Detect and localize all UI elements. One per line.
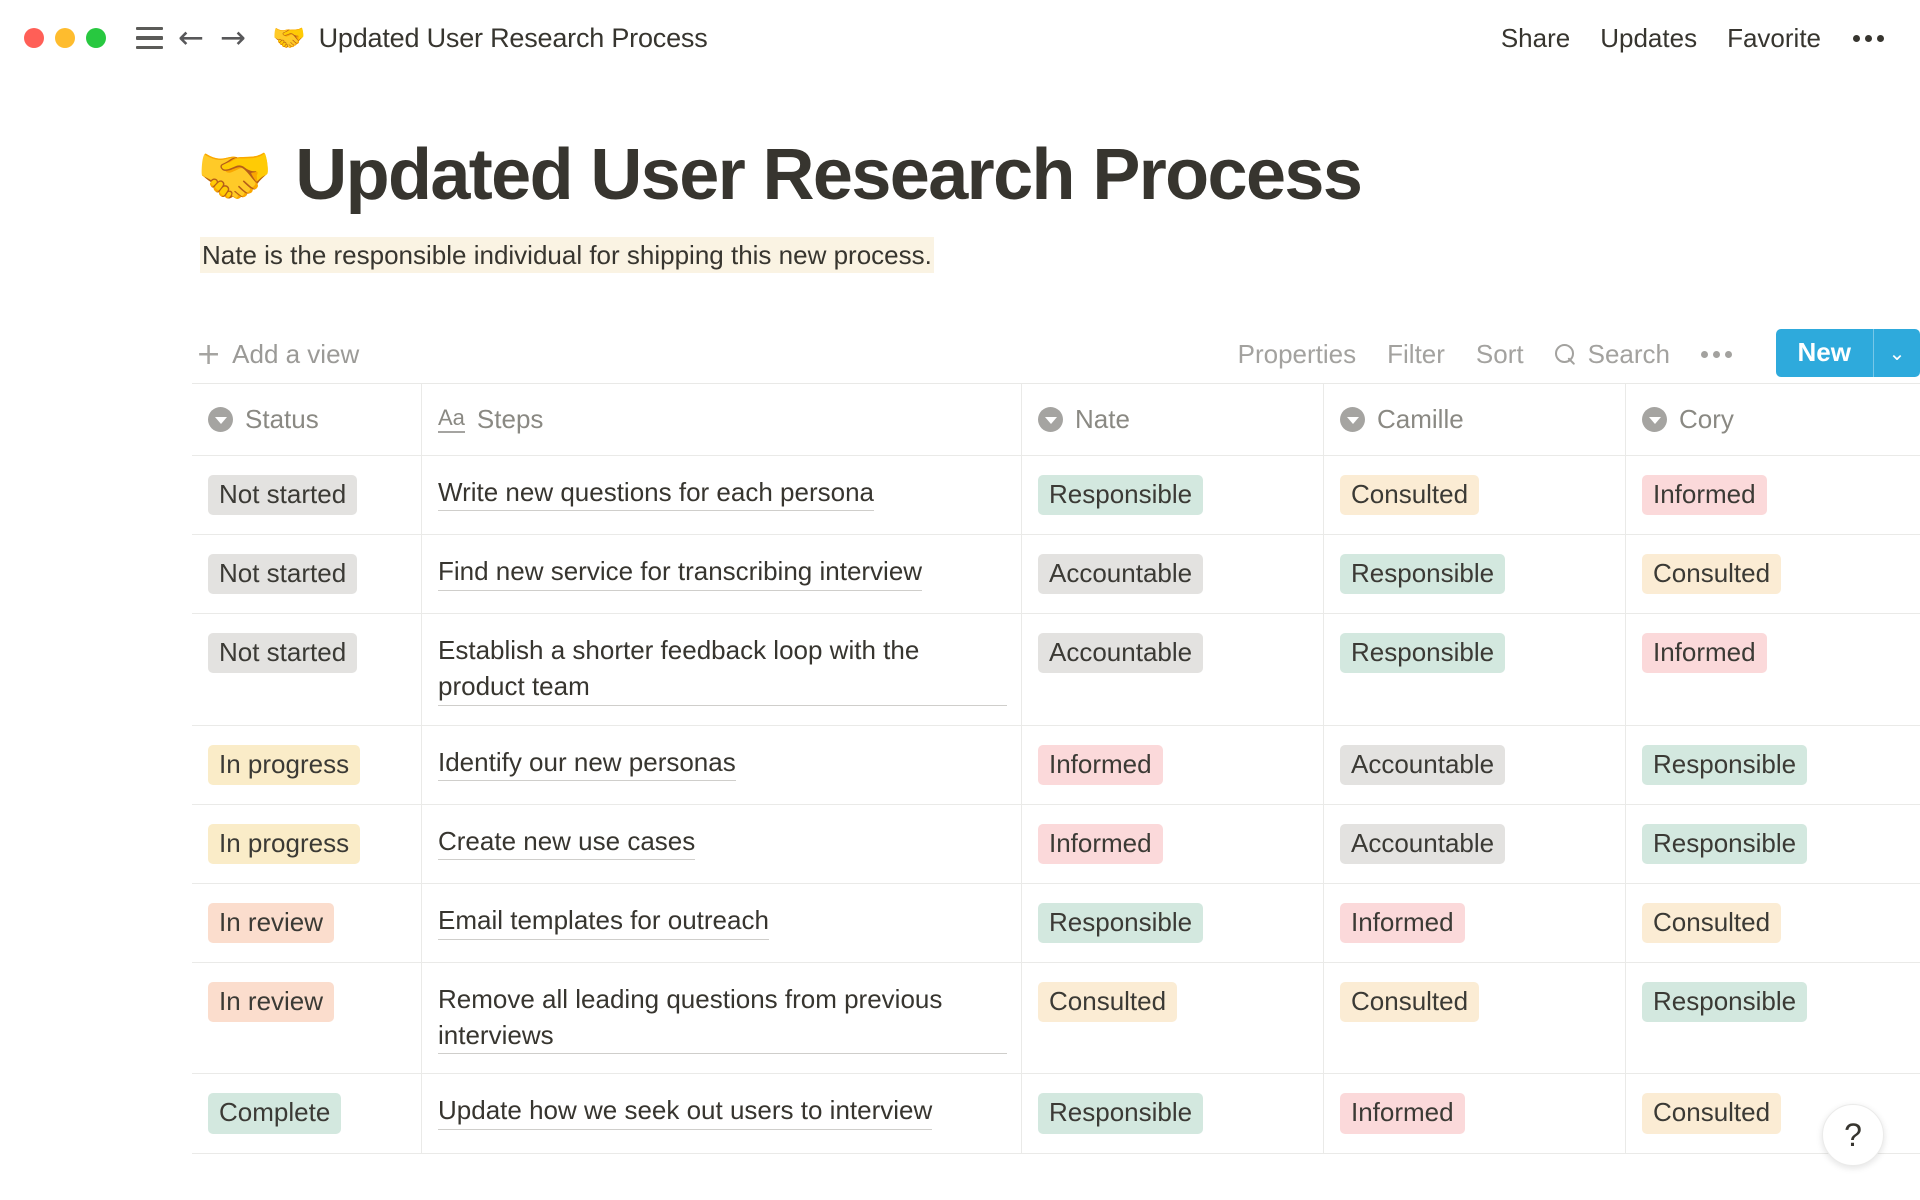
minimize-window-button[interactable] xyxy=(55,28,75,48)
step-title[interactable]: Write new questions for each persona xyxy=(438,475,874,512)
raci-badge-nate: Accountable xyxy=(1038,554,1203,594)
new-button-group: New ⌄ xyxy=(1776,329,1920,377)
cell-nate[interactable]: Accountable xyxy=(1022,535,1324,613)
step-title[interactable]: Identify our new personas xyxy=(438,745,736,782)
chevron-down-icon[interactable]: ⌄ xyxy=(1874,329,1920,377)
breadcrumb-title: Updated User Research Process xyxy=(319,23,708,54)
page-title[interactable]: Updated User Research Process xyxy=(295,138,1361,214)
table-row[interactable]: In progressCreate new use casesInformedA… xyxy=(192,805,1920,884)
properties-button[interactable]: Properties xyxy=(1238,339,1357,370)
cell-nate[interactable]: Accountable xyxy=(1022,614,1324,725)
cell-status[interactable]: In progress xyxy=(192,726,422,804)
table-row[interactable]: In progressIdentify our new personasInfo… xyxy=(192,726,1920,805)
table-row[interactable]: Not startedWrite new questions for each … xyxy=(192,456,1920,535)
raci-badge-cory: Consulted xyxy=(1642,554,1781,594)
cell-status[interactable]: Not started xyxy=(192,614,422,725)
cell-nate[interactable]: Informed xyxy=(1022,805,1324,883)
add-view-label: Add a view xyxy=(232,339,359,370)
cell-camille[interactable]: Consulted xyxy=(1324,456,1626,534)
back-arrow-icon[interactable]: ← xyxy=(170,17,212,59)
view-controls: Properties Filter Sort Search xyxy=(1238,327,1732,383)
cell-steps[interactable]: Establish a shorter feedback loop with t… xyxy=(422,614,1022,725)
help-button[interactable]: ? xyxy=(1822,1104,1884,1166)
table-row[interactable]: CompleteUpdate how we seek out users to … xyxy=(192,1074,1920,1153)
table-body: Not startedWrite new questions for each … xyxy=(192,456,1920,1154)
title-aa-icon: Aa xyxy=(438,406,465,433)
cell-steps[interactable]: Remove all leading questions from previo… xyxy=(422,963,1022,1074)
cell-status[interactable]: Not started xyxy=(192,535,422,613)
cell-camille[interactable]: Responsible xyxy=(1324,614,1626,725)
raci-badge-cory: Informed xyxy=(1642,475,1767,515)
column-header-label: Status xyxy=(245,404,319,435)
raci-badge-camille: Consulted xyxy=(1340,982,1479,1022)
raci-badge-cory: Consulted xyxy=(1642,903,1781,943)
column-header-steps[interactable]: Aa Steps xyxy=(422,384,1022,455)
status-badge: In progress xyxy=(208,824,360,864)
raci-badge-camille: Responsible xyxy=(1340,633,1505,673)
step-title[interactable]: Update how we seek out users to intervie… xyxy=(438,1093,932,1130)
page-subtitle[interactable]: Nate is the responsible individual for s… xyxy=(200,237,934,273)
select-type-icon xyxy=(1642,407,1667,432)
question-mark-icon: ? xyxy=(1844,1117,1862,1154)
table-row[interactable]: Not startedFind new service for transcri… xyxy=(192,535,1920,614)
table-row[interactable]: In reviewRemove all leading questions fr… xyxy=(192,963,1920,1075)
cell-camille[interactable]: Accountable xyxy=(1324,726,1626,804)
raci-badge-nate: Informed xyxy=(1038,745,1163,785)
database-table: Status Aa Steps Nate Camille xyxy=(192,383,1920,1154)
raci-badge-camille: Consulted xyxy=(1340,475,1479,515)
raci-badge-cory: Responsible xyxy=(1642,982,1807,1022)
cell-nate[interactable]: Responsible xyxy=(1022,456,1324,534)
cell-steps[interactable]: Update how we seek out users to intervie… xyxy=(422,1074,1022,1152)
zoom-window-button[interactable] xyxy=(86,28,106,48)
cell-cory[interactable]: Consulted xyxy=(1626,884,1920,962)
cell-nate[interactable]: Responsible xyxy=(1022,884,1324,962)
step-title[interactable]: Remove all leading questions from previo… xyxy=(438,982,1007,1055)
column-header-label: Steps xyxy=(477,404,544,435)
forward-arrow-glyph: → xyxy=(220,23,246,54)
column-header-cory[interactable]: Cory xyxy=(1626,384,1920,455)
cell-steps[interactable]: Create new use cases xyxy=(422,805,1022,883)
search-button[interactable]: Search xyxy=(1555,339,1670,370)
search-label: Search xyxy=(1588,339,1670,370)
cell-status[interactable]: In review xyxy=(192,884,422,962)
raci-badge-cory: Informed xyxy=(1642,633,1767,673)
back-arrow-glyph: ← xyxy=(178,23,204,54)
more-options-icon[interactable] xyxy=(1851,29,1886,48)
raci-badge-nate: Responsible xyxy=(1038,475,1203,515)
status-badge: Complete xyxy=(208,1093,341,1133)
breadcrumb[interactable]: 🤝 Updated User Research Process xyxy=(272,23,708,54)
cell-camille[interactable]: Consulted xyxy=(1324,963,1626,1074)
page-subtitle-row: Nate is the responsible individual for s… xyxy=(200,236,1920,275)
raci-badge-nate: Responsible xyxy=(1038,903,1203,943)
share-button[interactable]: Share xyxy=(1501,23,1570,54)
titlebar-actions: Share Updates Favorite xyxy=(1501,0,1886,76)
column-header-status[interactable]: Status xyxy=(192,384,422,455)
plus-icon: + xyxy=(196,340,221,370)
cell-status[interactable]: Complete xyxy=(192,1074,422,1152)
raci-badge-cory: Responsible xyxy=(1642,745,1807,785)
raci-badge-camille: Responsible xyxy=(1340,554,1505,594)
cell-nate[interactable]: Responsible xyxy=(1022,1074,1324,1152)
status-badge: In review xyxy=(208,903,334,943)
column-header-label: Cory xyxy=(1679,404,1734,435)
raci-badge-nate: Responsible xyxy=(1038,1093,1203,1133)
cell-camille[interactable]: Accountable xyxy=(1324,805,1626,883)
table-row[interactable]: Not startedEstablish a shorter feedback … xyxy=(192,614,1920,726)
raci-badge-cory: Responsible xyxy=(1642,824,1807,864)
select-type-icon xyxy=(1340,407,1365,432)
raci-badge-camille: Informed xyxy=(1340,1093,1465,1133)
column-header-nate[interactable]: Nate xyxy=(1022,384,1324,455)
cell-cory[interactable]: Responsible xyxy=(1626,726,1920,804)
cell-status[interactable]: In review xyxy=(192,963,422,1074)
database-view-toolbar: + Add a view Properties Filter Sort Sear… xyxy=(196,327,1920,383)
page-content: 🤝 Updated User Research Process Nate is … xyxy=(0,138,1920,1154)
cell-nate[interactable]: Informed xyxy=(1022,726,1324,804)
cell-steps[interactable]: Email templates for outreach xyxy=(422,884,1022,962)
status-badge: Not started xyxy=(208,633,357,673)
cell-cory[interactable]: Responsible xyxy=(1626,805,1920,883)
raci-badge-camille: Informed xyxy=(1340,903,1465,943)
step-title[interactable]: Find new service for transcribing interv… xyxy=(438,554,922,591)
cell-camille[interactable]: Informed xyxy=(1324,884,1626,962)
select-type-icon xyxy=(1038,407,1063,432)
status-badge: Not started xyxy=(208,554,357,594)
page-handshake-icon: 🤝 xyxy=(196,145,273,207)
cell-steps[interactable]: Find new service for transcribing interv… xyxy=(422,535,1022,613)
traffic-lights xyxy=(24,28,106,48)
new-button[interactable]: New xyxy=(1776,329,1873,377)
favorite-button[interactable]: Favorite xyxy=(1727,23,1821,54)
page-title-row: 🤝 Updated User Research Process xyxy=(196,138,1920,214)
add-view-button[interactable]: + Add a view xyxy=(196,339,359,370)
cell-cory[interactable]: Informed xyxy=(1626,614,1920,725)
status-badge: Not started xyxy=(208,475,357,515)
cell-camille[interactable]: Responsible xyxy=(1324,535,1626,613)
raci-badge-nate: Informed xyxy=(1038,824,1163,864)
status-badge: In review xyxy=(208,982,334,1022)
table-header-row: Status Aa Steps Nate Camille xyxy=(192,384,1920,456)
raci-badge-nate: Accountable xyxy=(1038,633,1203,673)
step-title[interactable]: Email templates for outreach xyxy=(438,903,769,940)
column-header-camille[interactable]: Camille xyxy=(1324,384,1626,455)
step-title[interactable]: Establish a shorter feedback loop with t… xyxy=(438,633,1007,706)
cell-cory[interactable]: Responsible xyxy=(1626,963,1920,1074)
column-header-label: Camille xyxy=(1377,404,1464,435)
raci-badge-camille: Accountable xyxy=(1340,824,1505,864)
forward-arrow-icon[interactable]: → xyxy=(212,17,254,59)
sidebar-toggle-icon[interactable] xyxy=(128,17,170,59)
cell-nate[interactable]: Consulted xyxy=(1022,963,1324,1074)
cell-status[interactable]: Not started xyxy=(192,456,422,534)
sort-button[interactable]: Sort xyxy=(1476,339,1524,370)
window-titlebar: ← → 🤝 Updated User Research Process Shar… xyxy=(0,0,1920,76)
search-icon xyxy=(1555,344,1577,366)
filter-button[interactable]: Filter xyxy=(1387,339,1445,370)
table-row[interactable]: In reviewEmail templates for outreachRes… xyxy=(192,884,1920,963)
close-window-button[interactable] xyxy=(24,28,44,48)
cell-steps[interactable]: Write new questions for each persona xyxy=(422,456,1022,534)
cell-cory[interactable]: Informed xyxy=(1626,456,1920,534)
cell-status[interactable]: In progress xyxy=(192,805,422,883)
updates-button[interactable]: Updates xyxy=(1600,23,1697,54)
cell-camille[interactable]: Informed xyxy=(1324,1074,1626,1152)
view-more-icon[interactable] xyxy=(1701,351,1732,358)
cell-steps[interactable]: Identify our new personas xyxy=(422,726,1022,804)
column-header-label: Nate xyxy=(1075,404,1130,435)
cell-cory[interactable]: Consulted xyxy=(1626,535,1920,613)
handshake-icon: 🤝 xyxy=(272,25,306,52)
raci-badge-camille: Accountable xyxy=(1340,745,1505,785)
raci-badge-cory: Consulted xyxy=(1642,1093,1781,1133)
status-badge: In progress xyxy=(208,745,360,785)
step-title[interactable]: Create new use cases xyxy=(438,824,695,861)
raci-badge-nate: Consulted xyxy=(1038,982,1177,1022)
select-type-icon xyxy=(208,407,233,432)
